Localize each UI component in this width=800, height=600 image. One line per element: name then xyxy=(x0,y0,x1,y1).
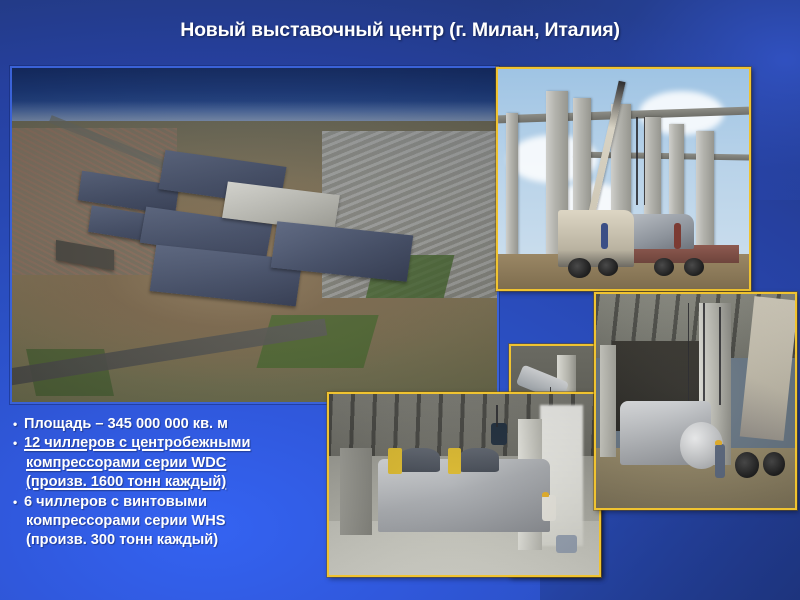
bullet-marker-icon xyxy=(13,415,24,434)
slide-title: Новый выставочный центр (г. Милан, Итали… xyxy=(0,17,800,43)
photo-aerial-exhibition-site xyxy=(10,66,499,404)
bullet-list: Площадь – 345 000 000 кв. м 12 чиллеров … xyxy=(13,415,331,551)
photo-chiller-wrapped-unit xyxy=(327,392,601,577)
bullet-text: компрессорами серии WHS xyxy=(26,513,225,529)
photo-chiller-crane-lift xyxy=(594,292,797,510)
list-item: 6 чиллеров с винтовыми компрессорами сер… xyxy=(13,493,331,551)
list-item: Площадь – 345 000 000 кв. м xyxy=(13,415,331,434)
presentation-slide: Новый выставочный центр (г. Милан, Итали… xyxy=(0,0,800,600)
bullet-text: Площадь – 345 000 000 кв. м xyxy=(24,416,228,432)
list-item: 12 чиллеров с центробежными компрессорам… xyxy=(13,434,331,492)
bullet-text: компрессорами серии WDC xyxy=(26,455,226,471)
photo-crane-content xyxy=(498,69,749,289)
bullet-text: (произв. 300 тонн каждый) xyxy=(26,532,218,548)
photo-chiller-right-content xyxy=(596,294,795,508)
photo-crane-lifting-panels xyxy=(496,67,751,291)
bullet-text: (произв. 1600 тонн каждый) xyxy=(26,474,226,490)
bullet-marker-icon xyxy=(13,434,24,453)
bullet-text: 6 чиллеров с винтовыми xyxy=(24,494,207,510)
photo-aerial-content xyxy=(12,68,497,402)
bullet-marker-icon xyxy=(13,493,24,512)
photo-chiller-bottom-content xyxy=(329,394,599,575)
bullet-text: 12 чиллеров с центробежными xyxy=(24,435,250,451)
